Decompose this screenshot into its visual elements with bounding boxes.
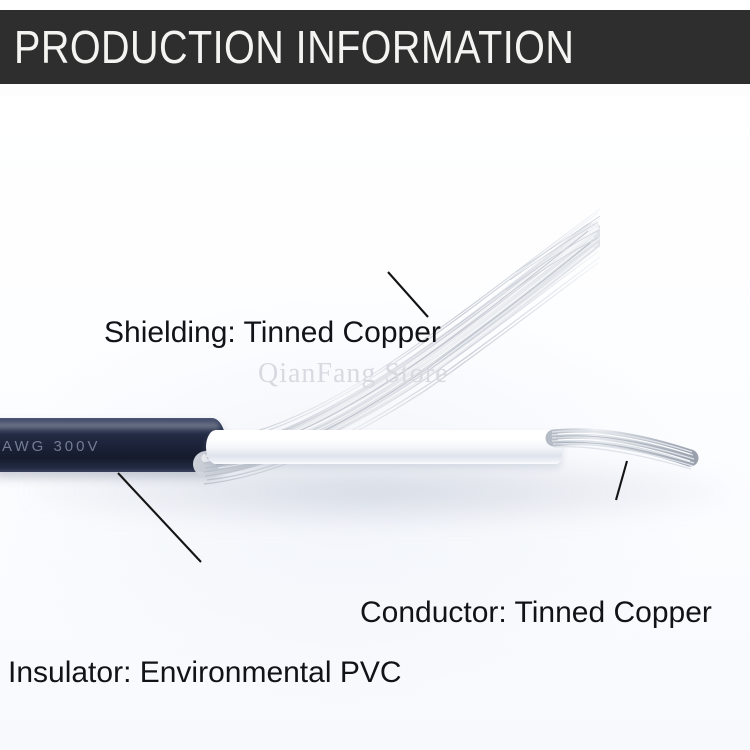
header-banner: PRODUCTION INFORMATION <box>0 10 750 84</box>
shielding-leader-line <box>388 272 428 317</box>
jacket-printed-text: AWG 300V <box>2 438 217 455</box>
inner-insulation <box>206 430 562 464</box>
inner-insulation-highlight <box>220 434 550 441</box>
page-title: PRODUCTION INFORMATION <box>14 24 574 70</box>
callout-label-conductor: Conductor: Tinned Copper <box>360 598 712 628</box>
callout-label-shielding: Shielding: Tinned Copper <box>104 318 441 348</box>
cable-outer-jacket: AWG 300V <box>0 418 226 472</box>
product-photo: AWG 300V <box>0 96 750 750</box>
banner-top-margin <box>0 0 750 10</box>
banner-bottom-margin <box>0 84 750 96</box>
product-information-image: PRODUCTION INFORMATION AWG 300V <box>0 0 750 750</box>
callout-label-insulator: Insulator: Environmental PVC <box>8 658 402 688</box>
jacket-highlight <box>0 423 220 432</box>
store-watermark: QianFang Store <box>258 358 449 390</box>
